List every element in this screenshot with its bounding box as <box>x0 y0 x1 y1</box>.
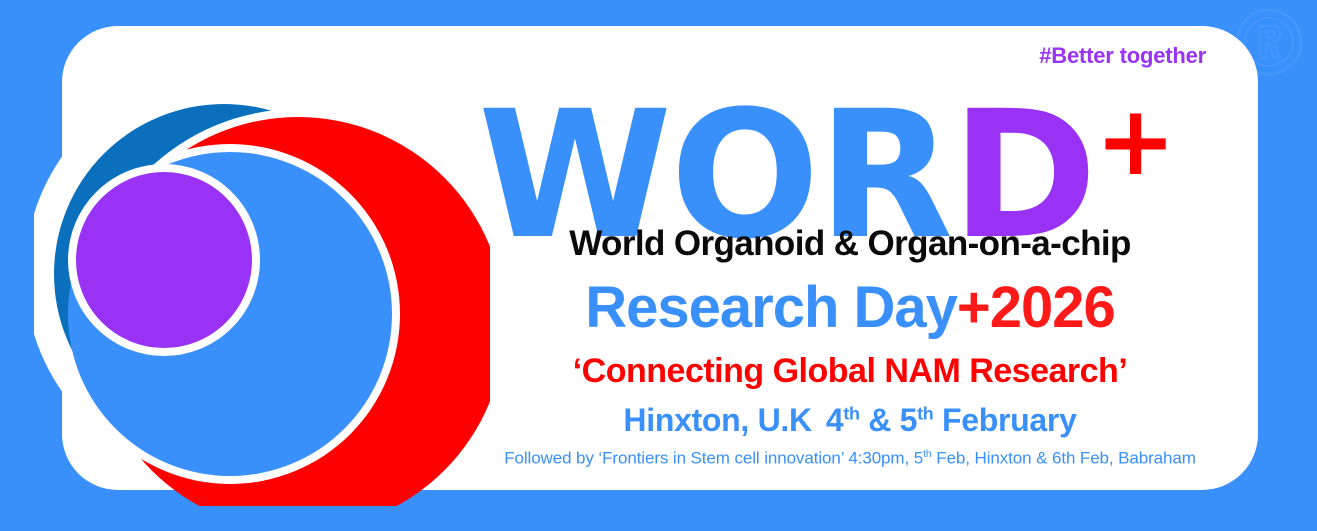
venue-day-second: 5 <box>900 402 918 438</box>
footer-ordinal-suffix: th <box>923 448 932 460</box>
venue-day-second-suffix: th <box>917 403 933 423</box>
banner-text-block: #Better together WORD+ World Organoid & … <box>470 26 1230 490</box>
conference-banner: #Better together WORD+ World Organoid & … <box>0 0 1317 531</box>
venue-ampersand: & <box>868 402 891 438</box>
research-day-line: Research Day+2026 <box>480 274 1220 341</box>
footer-part-two: Feb, Hinxton & 6th Feb, Babraham <box>932 449 1196 468</box>
venue-day-first-suffix: th <box>843 403 859 423</box>
venue-month: February <box>942 402 1077 438</box>
research-year-text: +2026 <box>957 275 1115 340</box>
footer-followed-by-note: Followed by ‘Frontiers in Stem cell inno… <box>470 448 1230 469</box>
venue-day-first: 4 <box>826 402 844 438</box>
tagline-connecting-global-nam: ‘Connecting Global NAM Research’ <box>480 352 1220 391</box>
venue-place: Hinxton, U.K <box>623 402 811 438</box>
footer-part-one: Followed by ‘Frontiers in Stem cell inno… <box>504 449 923 468</box>
wordmark-word-plus: WORD+ <box>478 52 1230 230</box>
subtitle-full-name: World Organoid & Organ-on-a-chip <box>480 224 1220 264</box>
logo-purple-circle <box>72 168 256 352</box>
word-organoid-logo <box>34 24 490 506</box>
research-day-text: Research Day <box>585 275 957 340</box>
wordmark-plus: + <box>1095 85 1175 197</box>
venue-and-dates: Hinxton, U.K4th & 5th February <box>480 402 1220 439</box>
